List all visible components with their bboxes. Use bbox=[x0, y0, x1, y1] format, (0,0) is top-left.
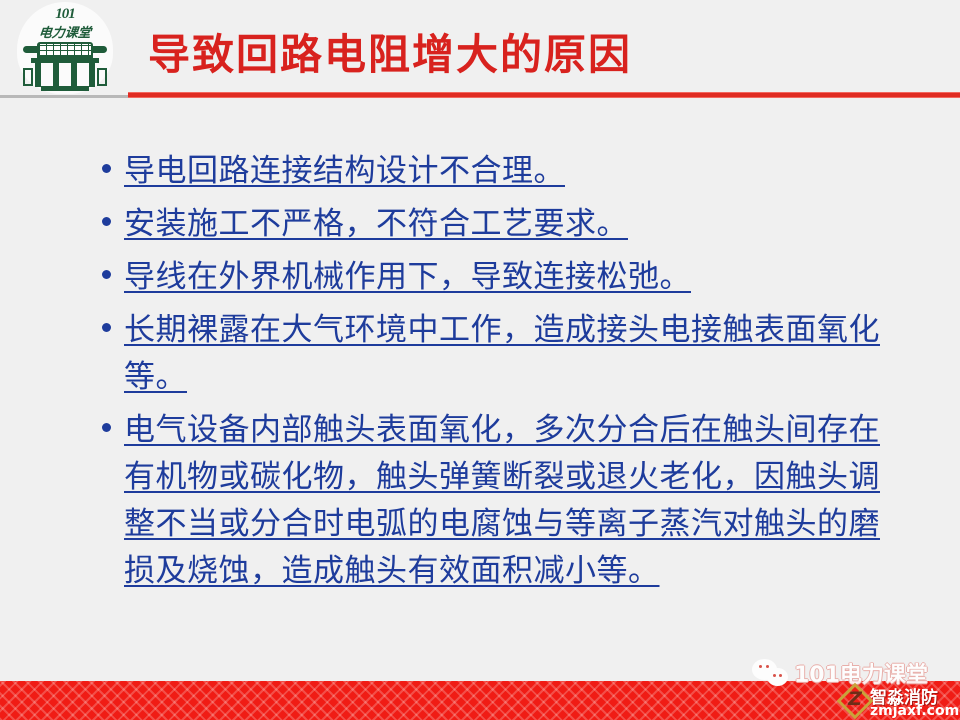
bullet-marker-icon bbox=[96, 407, 124, 432]
gate-eave-right bbox=[91, 46, 107, 53]
watermark: Z 智淼消防 zmjaxf.com bbox=[838, 682, 960, 720]
gate-side-left bbox=[23, 68, 33, 86]
bullet-marker-icon bbox=[96, 148, 124, 173]
bullet-text: 长期裸露在大气环境中工作，造成接头电接触表面氧化等。 bbox=[124, 307, 896, 401]
watermark-url: zmjaxf.com bbox=[870, 703, 959, 719]
watermark-emblem-icon: Z bbox=[838, 684, 872, 718]
bullet-text: 安装施工不严格，不符合工艺要求。 bbox=[124, 201, 896, 248]
gate-column bbox=[89, 63, 95, 87]
bullet-marker-icon bbox=[96, 201, 124, 226]
bullet-text: 导电回路连接结构设计不合理。 bbox=[124, 148, 896, 195]
gate-roof bbox=[37, 42, 93, 58]
bullet-list: 导电回路连接结构设计不合理。 安装施工不严格，不符合工艺要求。 导线在外界机械作… bbox=[96, 148, 896, 601]
logo-number: 101 bbox=[17, 6, 113, 23]
gate-base bbox=[41, 86, 89, 91]
list-item: 导电回路连接结构设计不合理。 bbox=[96, 148, 896, 195]
bullet-marker-icon bbox=[96, 254, 124, 279]
header-divider-red bbox=[128, 92, 960, 98]
wechat-icon bbox=[752, 659, 790, 687]
list-item: 长期裸露在大气环境中工作，造成接头电接触表面氧化等。 bbox=[96, 307, 896, 401]
gate-side-right bbox=[97, 68, 107, 86]
gate-column bbox=[71, 63, 77, 87]
list-item: 电气设备内部触头表面氧化，多次分合后在触头间存在有机物或碳化物，触头弹簧断裂或退… bbox=[96, 407, 896, 595]
list-item: 导线在外界机械作用下，导致连接松弛。 bbox=[96, 254, 896, 301]
watermark-emblem-char: Z bbox=[838, 688, 872, 710]
presentation-slide: 101 电力课堂 导致回路电阻增大的原因 导电回路连接结构设计 bbox=[0, 0, 960, 720]
page-title: 导致回路电阻增大的原因 bbox=[148, 34, 632, 76]
list-item: 安装施工不严格，不符合工艺要求。 bbox=[96, 201, 896, 248]
header-divider-gray bbox=[0, 95, 132, 98]
slide-header: 101 电力课堂 导致回路电阻增大的原因 bbox=[0, 0, 960, 100]
logo-name: 电力课堂 bbox=[16, 22, 114, 41]
academy-gate-icon bbox=[23, 42, 107, 92]
bullet-text: 导线在外界机械作用下，导致连接松弛。 bbox=[124, 254, 896, 301]
bullet-text: 电气设备内部触头表面氧化，多次分合后在触头间存在有机物或碳化物，触头弹簧断裂或退… bbox=[124, 407, 896, 595]
gate-column bbox=[35, 63, 41, 87]
bullet-marker-icon bbox=[96, 307, 124, 332]
academy-logo: 101 电力课堂 bbox=[17, 2, 113, 94]
gate-column bbox=[53, 63, 59, 87]
